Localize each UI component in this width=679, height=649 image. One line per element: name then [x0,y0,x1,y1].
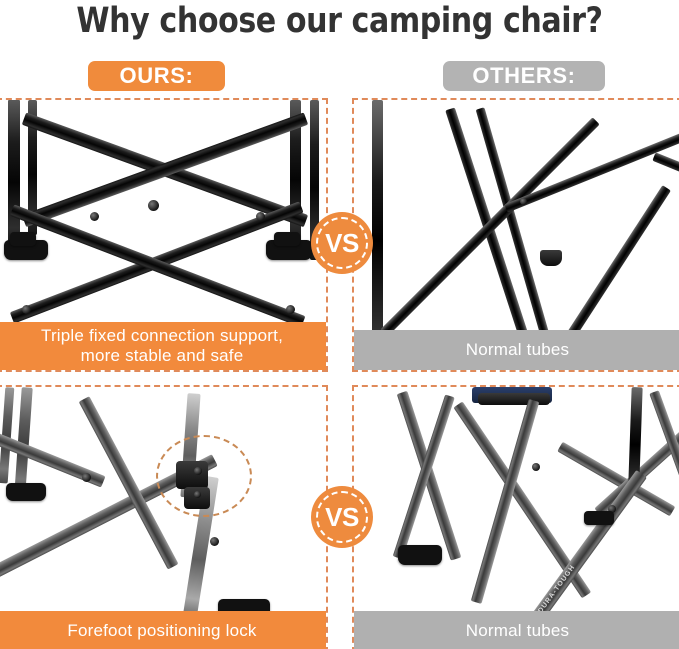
photo-normal-grey-tubes: DURA-TOUGH [354,387,679,649]
badge-others-label: OTHERS: [472,63,575,89]
badge-others: OTHERS: [443,61,605,91]
lock-highlight-oval [156,435,252,517]
caption-bottom-right: Normal tubes [354,611,679,649]
vs-badge-bottom-label: VS [325,502,359,533]
panel-bottom-left: Forefoot positioning lock [0,385,328,649]
panel-top-left: Triple fixed connection support, more st… [0,98,328,372]
photo-forefoot-lock [0,387,326,649]
caption-top-left-line2: more stable and safe [41,346,283,366]
vs-badge-top: VS [311,212,373,274]
badge-ours: OURS: [88,61,225,91]
caption-top-left-line1: Triple fixed connection support, [41,326,283,346]
tube-marking-dura-tough: DURA-TOUGH [537,564,577,615]
panel-top-right: Normal tubes [352,98,679,372]
caption-top-right: Normal tubes [354,330,679,370]
infographic-canvas: Why choose our camping chair? OURS: OTHE… [0,0,679,649]
vs-badge-bottom: VS [311,486,373,548]
caption-top-left: Triple fixed connection support, more st… [0,322,326,370]
caption-bottom-left: Forefoot positioning lock [0,611,326,649]
badge-ours-label: OURS: [120,63,194,89]
panel-bottom-right: DURA-TOUGH Normal tubes [352,385,679,649]
page-title: Why choose our camping chair? [48,1,632,41]
vs-badge-top-label: VS [325,228,359,259]
